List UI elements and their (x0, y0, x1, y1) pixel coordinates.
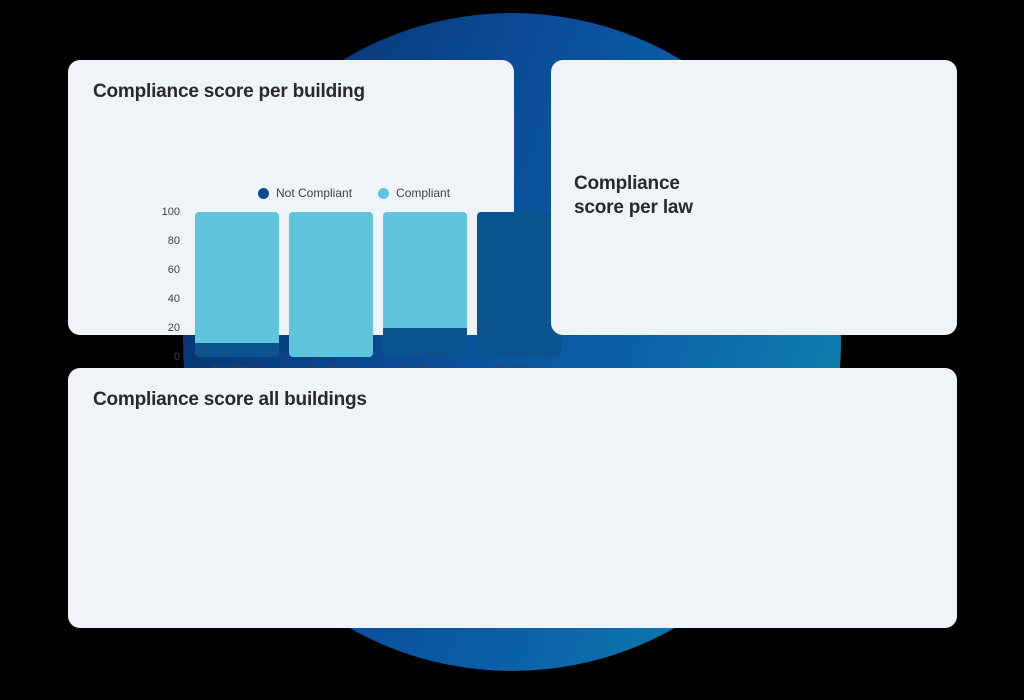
page-title-compliance-per-building: Compliance score per building (93, 81, 365, 103)
page-title-line: Compliance (574, 172, 734, 196)
y-axis-tick-label: 100 (150, 206, 180, 218)
panel-compliance-score-all-buildings: Compliance score all buildings Not Compl… (68, 368, 957, 628)
bar-segment-not-compliant[interactable] (477, 212, 561, 357)
page-title-line: score per law (574, 196, 734, 220)
bar-group-compliance-per-building (190, 212, 566, 357)
bar-slot (190, 212, 284, 357)
bar-slot (378, 212, 472, 357)
y-axis-compliance-per-building: 100806040200 (156, 205, 186, 375)
legend-label-not-compliant: Not Compliant (276, 186, 352, 200)
legend-dot-compliant-icon (378, 188, 389, 199)
stacked-bar[interactable] (289, 212, 373, 357)
legend-dot-not-compliant-icon (258, 188, 269, 199)
y-axis-tick-label: 40 (150, 293, 180, 305)
bar-chart-compliance-per-building: 100806040200 Building 1Building 2Buildin… (156, 205, 566, 375)
legend-item-compliant[interactable]: Compliant (378, 186, 450, 200)
y-axis-tick-label: 20 (150, 322, 180, 334)
panel-compliance-score-per-law: Compliancescore per law Compliant 17% No… (551, 60, 957, 335)
legend-compliance-per-building: Not Compliant Compliant (258, 186, 450, 200)
panel-compliance-score-per-building: Compliance score per building Not Compli… (68, 60, 514, 335)
page-title-compliance-per-law: Compliancescore per law (574, 172, 734, 220)
stacked-bar[interactable] (383, 212, 467, 357)
bar-segment-not-compliant[interactable] (383, 328, 467, 357)
y-axis-tick-label: 60 (150, 264, 180, 276)
bar-slot (284, 212, 378, 357)
legend-item-not-compliant[interactable]: Not Compliant (258, 186, 352, 200)
bar-segment-compliant[interactable] (195, 212, 279, 343)
y-axis-tick-label: 80 (150, 235, 180, 247)
stacked-bar[interactable] (195, 212, 279, 357)
stacked-bar[interactable] (477, 212, 561, 357)
page-title-compliance-all-buildings: Compliance score all buildings (93, 389, 367, 411)
legend-label-compliant: Compliant (396, 186, 450, 200)
bar-segment-compliant[interactable] (383, 212, 467, 328)
bar-segment-not-compliant[interactable] (195, 343, 279, 358)
plot-area-compliance-per-building: Building 1Building 2Building 3Building 4 (190, 212, 566, 375)
bar-segment-compliant[interactable] (289, 212, 373, 357)
y-axis-tick-label: 0 (150, 351, 180, 363)
